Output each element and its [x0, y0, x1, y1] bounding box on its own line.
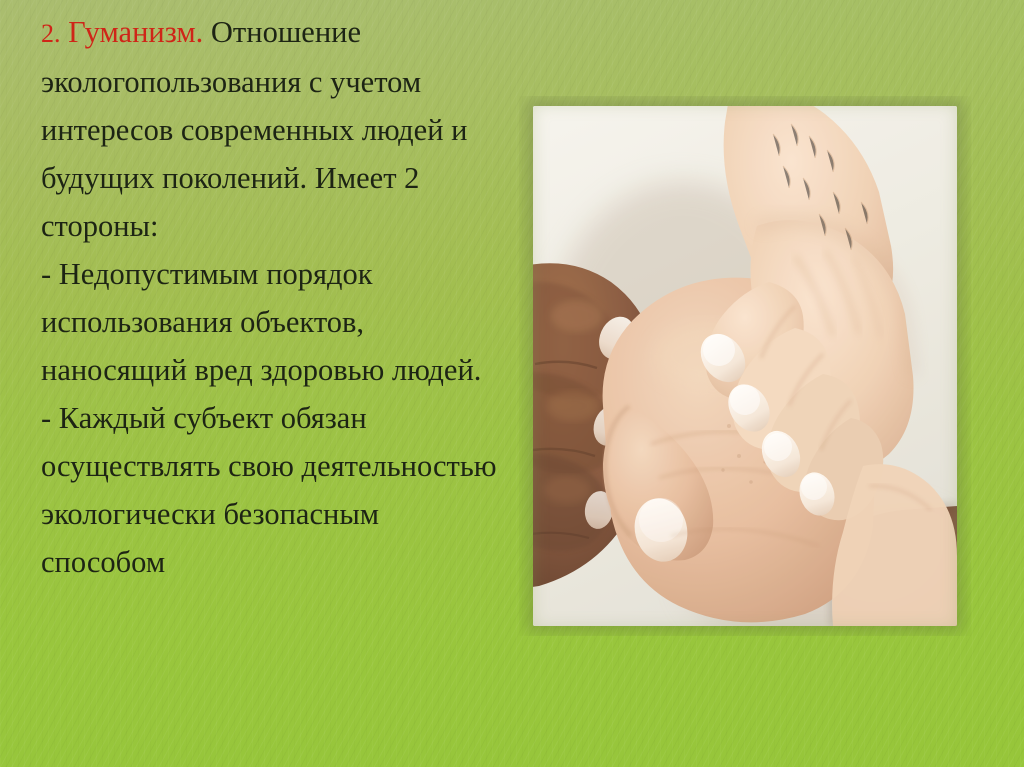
- photo-container: [519, 96, 971, 636]
- heading-number: 2.: [41, 19, 61, 48]
- slide: 2. Гуманизм. Отношение экологопользовани…: [0, 0, 1024, 767]
- paragraph-side-one: - Недопустимым порядок использования объ…: [41, 250, 503, 394]
- heading-accent: 2. Гуманизм.: [41, 15, 203, 49]
- slide-text-column: 2. Гуманизм. Отношение экологопользовани…: [41, 8, 503, 586]
- stacked-hands-photo: [533, 106, 957, 626]
- photo-soft-edge: [519, 96, 971, 636]
- paragraph-definition: 2. Гуманизм. Отношение экологопользовани…: [41, 8, 503, 250]
- paragraph-side-two: - Каждый субъект обязан осуществлять сво…: [41, 394, 503, 586]
- stacked-hands-illustration: [533, 106, 957, 626]
- paragraph-definition-rest: Отношение экологопользования с учетом ин…: [41, 15, 467, 243]
- heading-term: Гуманизм.: [68, 15, 203, 49]
